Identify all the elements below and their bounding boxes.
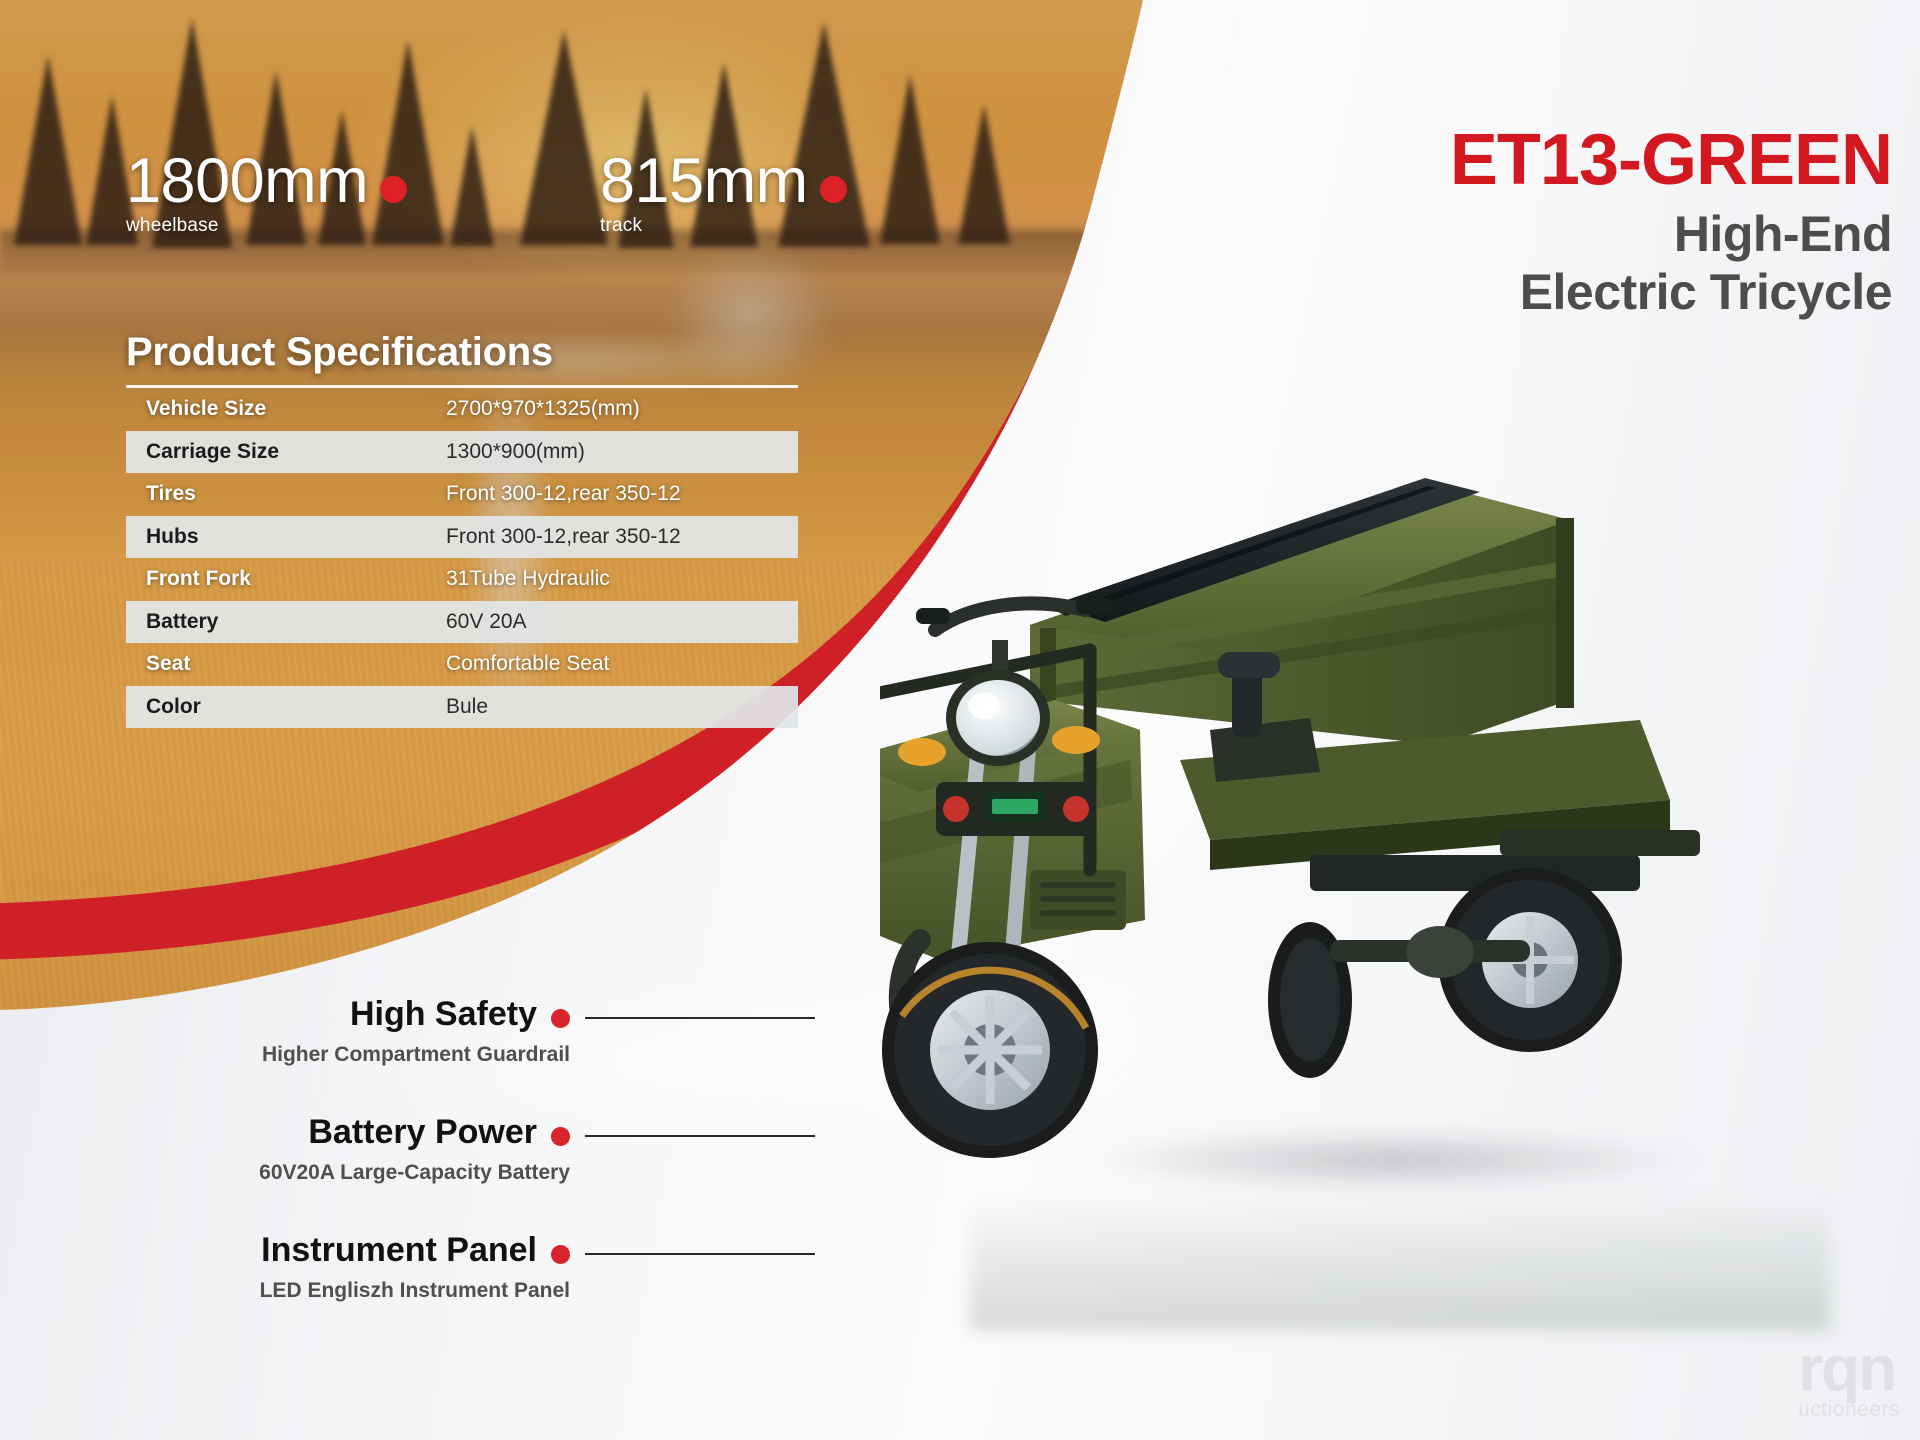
instrument-panel: [936, 782, 1096, 836]
table-row: Seat Comfortable Seat: [126, 643, 798, 686]
measurement-label: track: [600, 215, 847, 237]
turn-signal-right: [1052, 726, 1100, 754]
turn-signal-left: [898, 738, 946, 766]
table-row: Battery 60V 20A: [126, 601, 798, 644]
title-block: ET13-GREEN High-End Electric Tricycle: [1450, 124, 1892, 321]
leader-line: [585, 1017, 815, 1019]
bullet-dot-icon: [551, 1127, 570, 1146]
table-row: Vehicle Size 2700*970*1325(mm): [126, 388, 798, 431]
feature-instrument-panel: Instrument Panel LED Engliszh Instrument…: [0, 1231, 760, 1303]
leader-line: [585, 1253, 815, 1255]
feature-title: High Safety: [350, 995, 537, 1034]
bullet-dot-icon: [820, 176, 847, 203]
measurement-label: wheelbase: [126, 215, 407, 237]
feature-subtitle: 60V20A Large-Capacity Battery: [0, 1161, 570, 1185]
spec-key: Tires: [146, 482, 446, 506]
spec-key: Carriage Size: [146, 440, 446, 464]
product-specifications: Product Specifications Vehicle Size 2700…: [126, 330, 798, 728]
spec-key: Seat: [146, 652, 446, 676]
bullet-dot-icon: [551, 1009, 570, 1028]
table-row: Carriage Size 1300*900(mm): [126, 431, 798, 474]
product-image-electric-tricycle: [880, 400, 1920, 1340]
feature-callouts: High Safety Higher Compartment Guardrail…: [0, 995, 760, 1349]
spec-value: 1300*900(mm): [446, 440, 798, 464]
tagline-line-1: High-End: [1450, 205, 1892, 263]
feature-title: Instrument Panel: [261, 1231, 537, 1270]
tricycle-illustration: [880, 400, 1920, 1220]
page-title: ET13-GREEN: [1450, 124, 1892, 197]
table-row: Hubs Front 300-12,rear 350-12: [126, 516, 798, 559]
spec-table: Vehicle Size 2700*970*1325(mm) Carriage …: [126, 388, 798, 728]
table-row: Color Bule: [126, 686, 798, 729]
bullet-dot-icon: [551, 1245, 570, 1264]
table-row: Front Fork 31Tube Hydraulic: [126, 558, 798, 601]
spec-key: Hubs: [146, 525, 446, 549]
feature-subtitle: LED Engliszh Instrument Panel: [0, 1279, 570, 1303]
measurement-track: 815mm track: [600, 150, 847, 237]
spec-key: Front Fork: [146, 567, 446, 591]
feature-title: Battery Power: [308, 1113, 537, 1152]
measurement-value: 815mm: [600, 150, 808, 213]
spec-title: Product Specifications: [126, 330, 798, 375]
spec-value: Comfortable Seat: [446, 652, 798, 676]
bullet-dot-icon: [380, 176, 407, 203]
feature-high-safety: High Safety Higher Compartment Guardrail: [0, 995, 760, 1067]
tagline: High-End Electric Tricycle: [1450, 205, 1892, 321]
table-row: Tires Front 300-12,rear 350-12: [126, 473, 798, 516]
spec-value: 60V 20A: [446, 610, 798, 634]
feature-battery-power: Battery Power 60V20A Large-Capacity Batt…: [0, 1113, 760, 1185]
measurement-wheelbase: 1800mm wheelbase: [126, 150, 407, 237]
poster-canvas: 1800mm wheelbase 815mm track Product Spe…: [0, 0, 1920, 1440]
spec-value: Front 300-12,rear 350-12: [446, 525, 798, 549]
tagline-line-2: Electric Tricycle: [1450, 263, 1892, 321]
spec-value: 2700*970*1325(mm): [446, 397, 798, 421]
spec-key: Vehicle Size: [146, 397, 446, 421]
product-reflection: [970, 1140, 1830, 1330]
spec-value: 31Tube Hydraulic: [446, 567, 798, 591]
feature-subtitle: Higher Compartment Guardrail: [0, 1043, 570, 1067]
headlight: [946, 670, 1050, 766]
measurement-value: 1800mm: [126, 150, 368, 213]
spec-key: Color: [146, 695, 446, 719]
leader-line: [585, 1135, 815, 1137]
cargo-bed: [1030, 478, 1574, 745]
spec-value: Bule: [446, 695, 798, 719]
spec-value: Front 300-12,rear 350-12: [446, 482, 798, 506]
spec-key: Battery: [146, 610, 446, 634]
